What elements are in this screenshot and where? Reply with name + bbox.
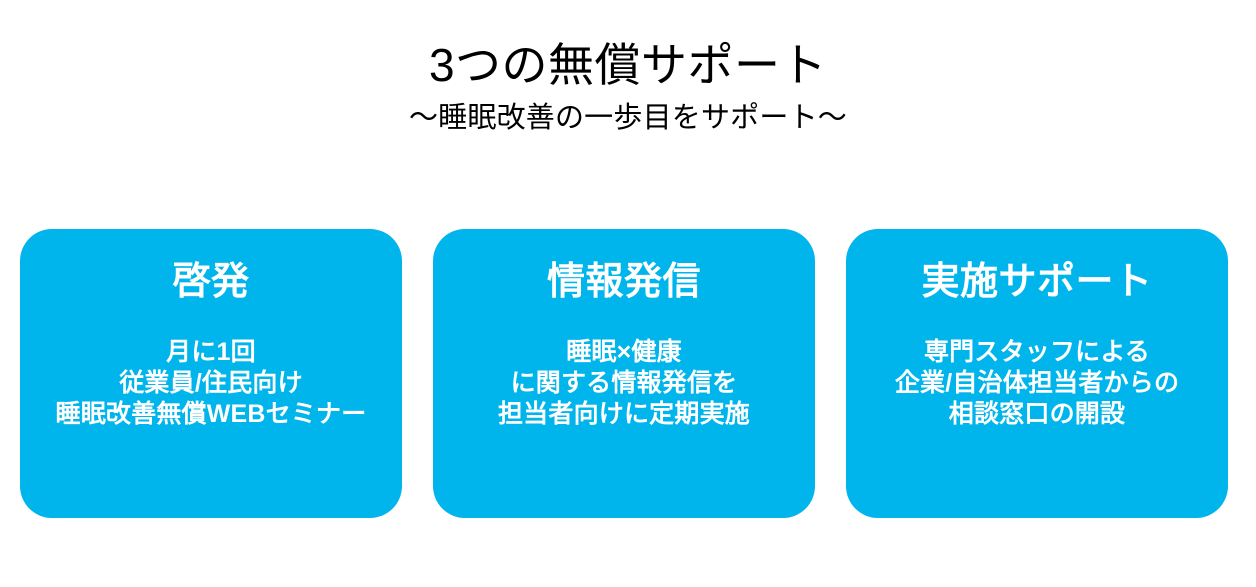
support-card-2: 情報発信 睡眠×健康 に関する情報発信を 担当者向けに定期実施	[433, 229, 815, 518]
support-card-2-line-1: 睡眠×健康	[498, 337, 750, 368]
slide-root: 3つの無償サポート 〜睡眠改善の一歩目をサポート〜 啓発 月に1回 従業員/住民…	[0, 0, 1256, 587]
page-title: 3つの無償サポート	[0, 38, 1256, 92]
support-card-1-line-3: 睡眠改善無償WEBセミナー	[56, 399, 367, 430]
support-card-2-line-2: に関する情報発信を	[498, 368, 750, 399]
support-card-1-title: 啓発	[172, 259, 249, 305]
support-card-3-line-1: 専門スタッフによる	[895, 337, 1179, 368]
support-card-3-title: 実施サポート	[921, 259, 1152, 305]
support-card-1: 啓発 月に1回 従業員/住民向け 睡眠改善無償WEBセミナー	[20, 229, 402, 518]
support-card-1-body: 月に1回 従業員/住民向け 睡眠改善無償WEBセミナー	[56, 337, 367, 430]
support-card-3-body: 専門スタッフによる 企業/自治体担当者からの 相談窓口の開設	[895, 337, 1179, 430]
header: 3つの無償サポート 〜睡眠改善の一歩目をサポート〜	[0, 38, 1256, 136]
support-card-1-line-2: 従業員/住民向け	[56, 368, 367, 399]
page-subtitle: 〜睡眠改善の一歩目をサポート〜	[0, 100, 1256, 136]
support-cards-row: 啓発 月に1回 従業員/住民向け 睡眠改善無償WEBセミナー 情報発信 睡眠×健…	[20, 229, 1228, 518]
support-card-3: 実施サポート 専門スタッフによる 企業/自治体担当者からの 相談窓口の開設	[846, 229, 1228, 518]
support-card-3-line-3: 相談窓口の開設	[895, 399, 1179, 430]
support-card-2-title: 情報発信	[547, 259, 701, 305]
support-card-2-line-3: 担当者向けに定期実施	[498, 399, 750, 430]
support-card-3-line-2: 企業/自治体担当者からの	[895, 368, 1179, 399]
support-card-2-body: 睡眠×健康 に関する情報発信を 担当者向けに定期実施	[498, 337, 750, 430]
support-card-1-line-1: 月に1回	[56, 337, 367, 368]
